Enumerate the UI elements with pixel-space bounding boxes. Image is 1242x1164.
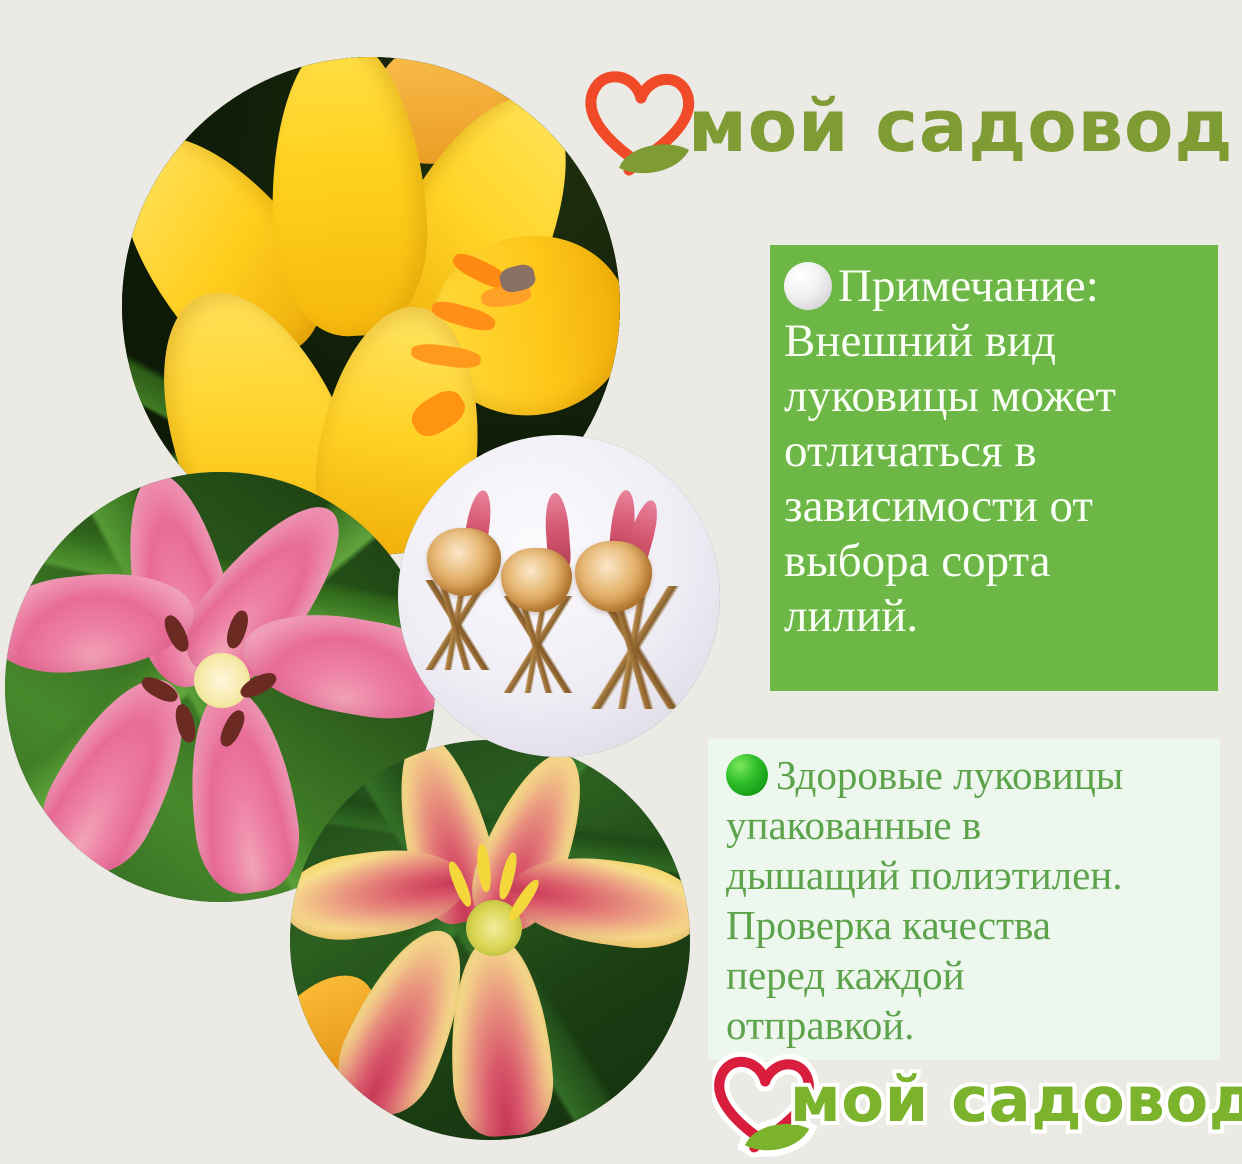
- note-heading-text: Примечание:: [838, 260, 1099, 312]
- packaging-box: Здоровые луковицы упакованные в дышащий …: [708, 738, 1220, 1060]
- leaf-icon: [583, 58, 703, 183]
- note-heading-line: Примечание:: [784, 259, 1202, 314]
- white-circle-icon: [784, 262, 832, 310]
- lily-bulbs-photo: [398, 435, 720, 757]
- packaging-heading-text: Здоровые луковицы: [776, 752, 1123, 798]
- red-yellow-lily-photo: [290, 740, 690, 1140]
- flower-center: [194, 653, 250, 709]
- packaging-heading-line: Здоровые луковицы: [726, 750, 1206, 800]
- brand-name-top: мой садовод: [688, 84, 1233, 168]
- packaging-line: перед каждой: [726, 950, 1206, 1000]
- note-line: зависимости от: [784, 479, 1202, 534]
- note-line: лилий.: [784, 589, 1202, 644]
- packaging-line: Проверка качества: [726, 900, 1206, 950]
- packaging-line: упакованные в: [726, 800, 1206, 850]
- brand-logo-bottom: мой садовод мой садовод: [712, 1043, 1232, 1163]
- note-line: Внешний вид: [784, 314, 1202, 369]
- note-line: отличаться в: [784, 424, 1202, 479]
- green-circle-icon: [726, 754, 768, 796]
- note-line: луковицы может: [784, 369, 1202, 424]
- promo-banner: мой садовод Примечание: Внешний вид луко…: [0, 0, 1242, 1164]
- packaging-line: дышащий полиэтилен.: [726, 850, 1206, 900]
- note-box: Примечание: Внешний вид луковицы может о…: [770, 245, 1218, 691]
- brand-logo-top: мой садовод: [583, 58, 1223, 198]
- note-line: выбора сорта: [784, 534, 1202, 589]
- brand-name-bottom: мой садовод: [790, 1063, 1242, 1136]
